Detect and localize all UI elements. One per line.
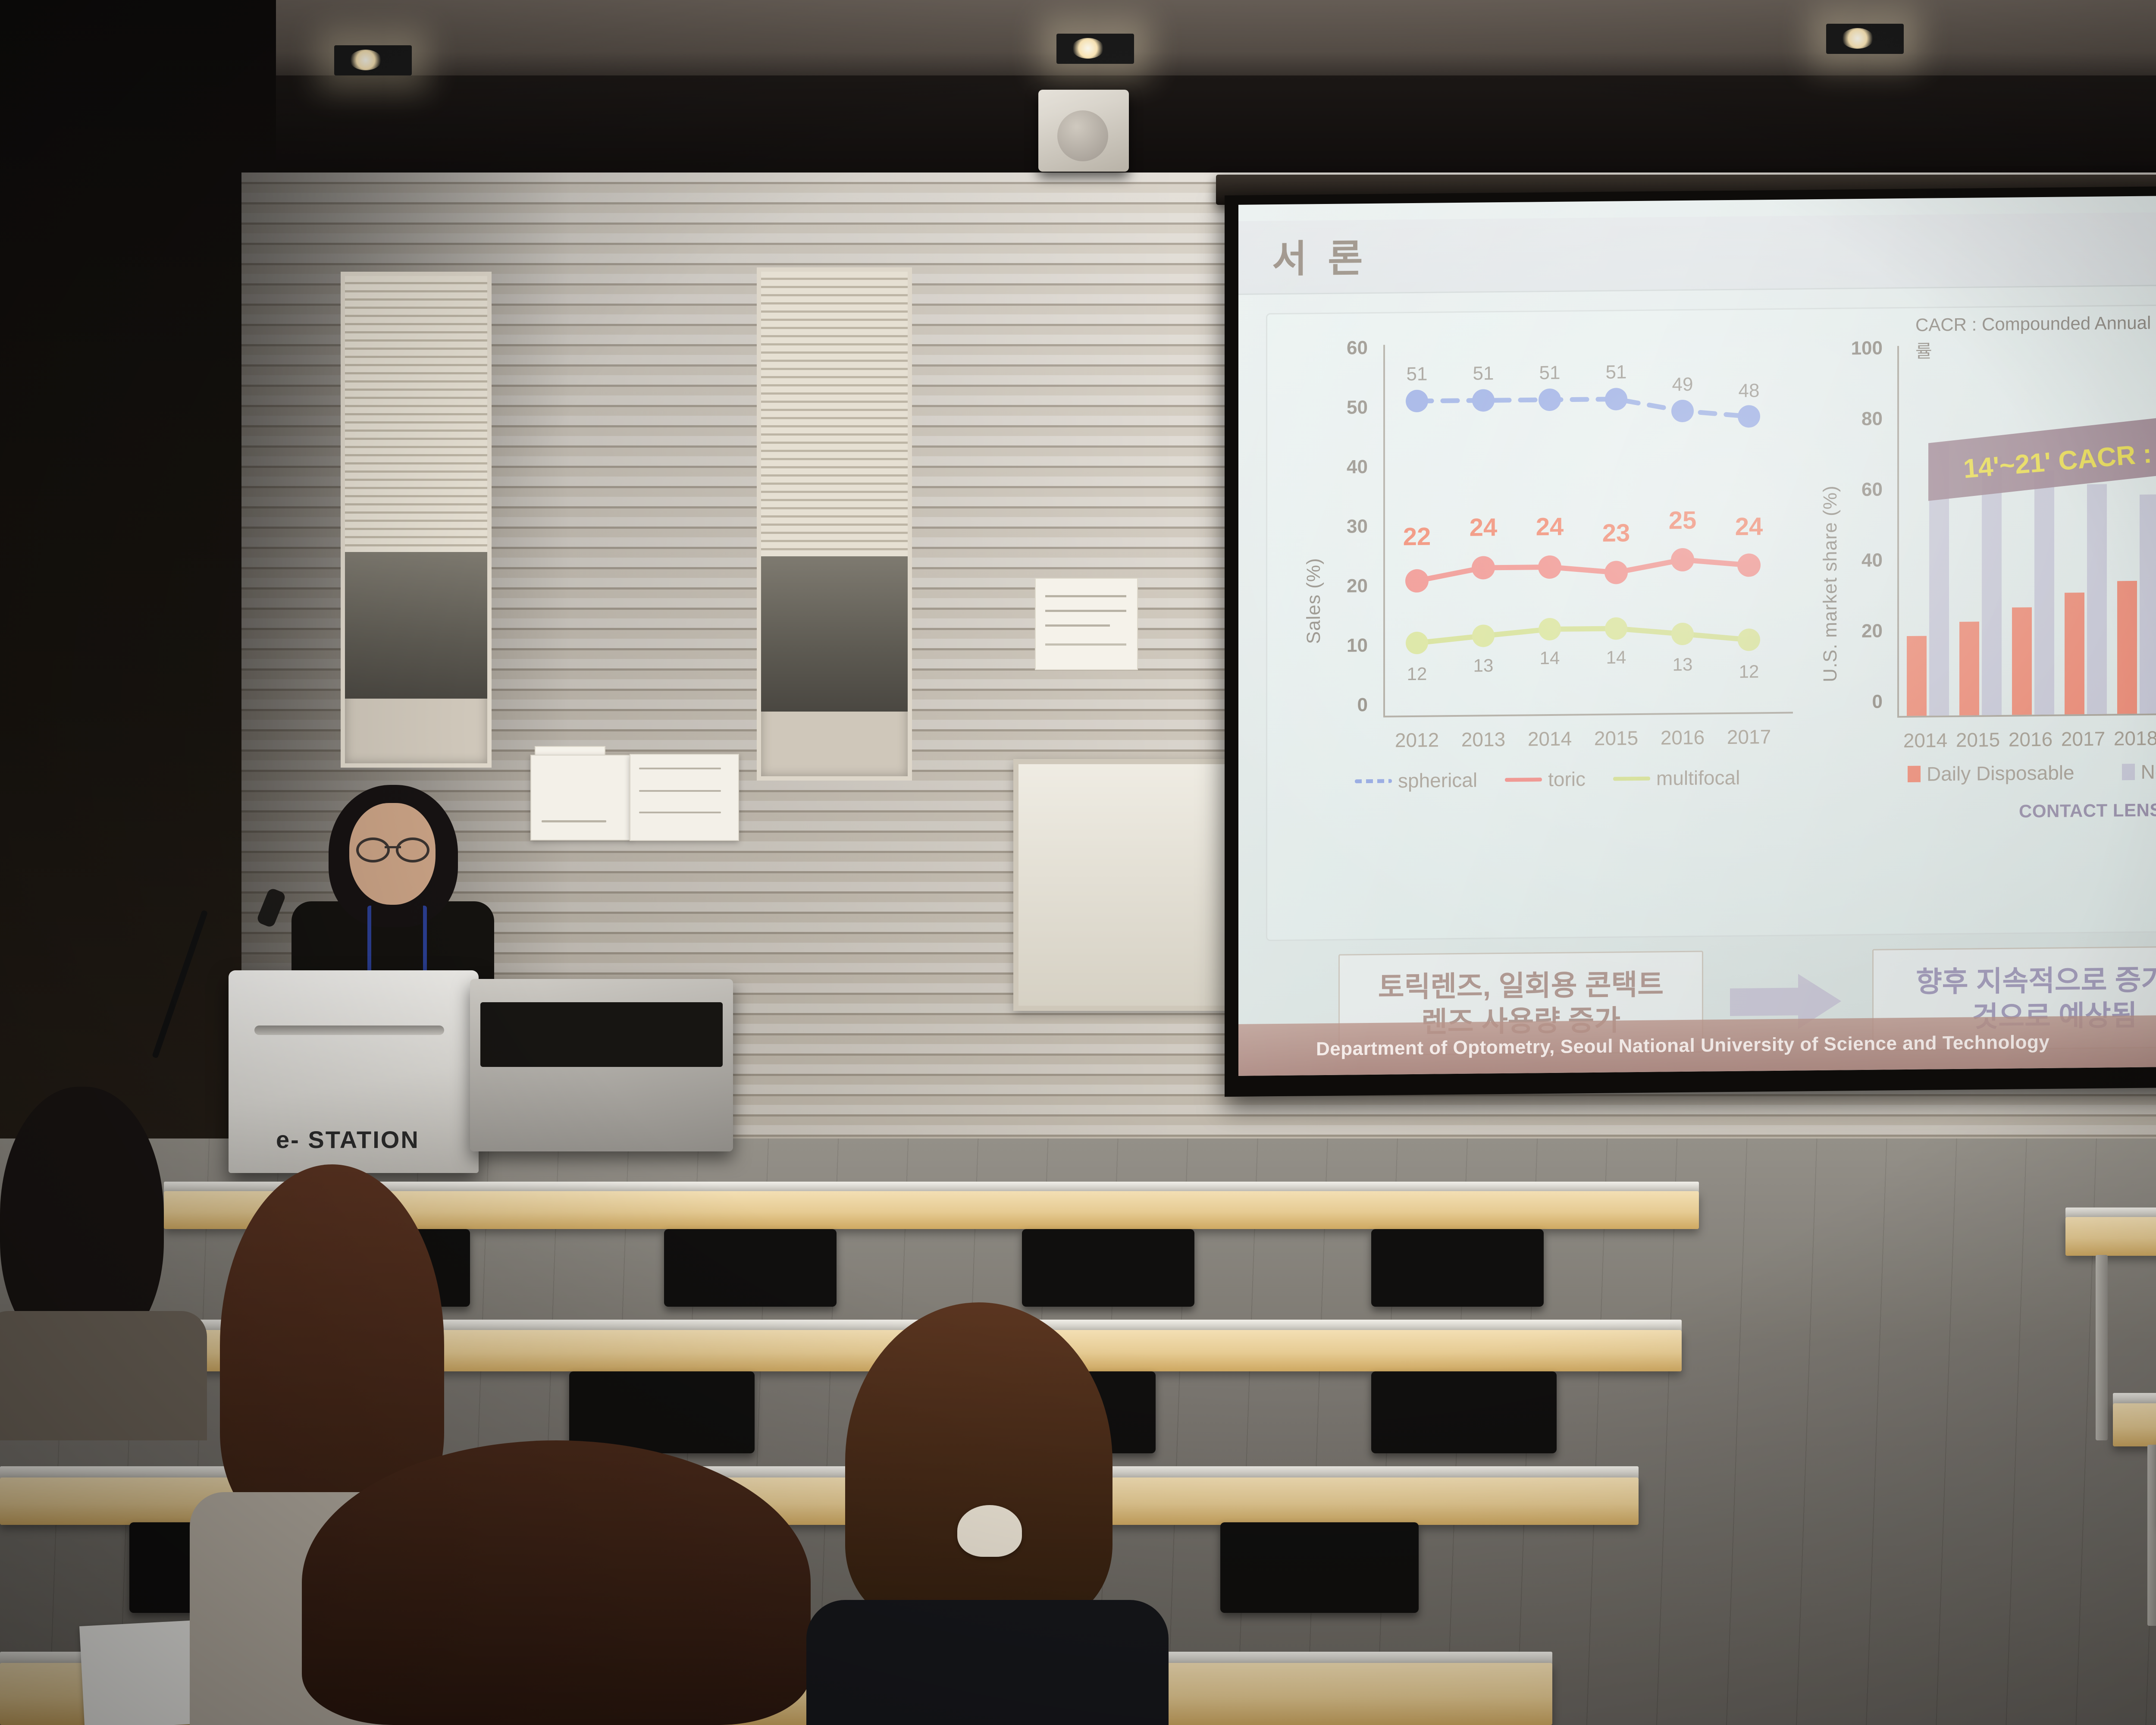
desk-leg bbox=[2147, 1445, 2156, 1626]
data-label-multifocal: 12 bbox=[1385, 663, 1449, 684]
line-chart-x-tick: 2015 bbox=[1584, 726, 1648, 750]
line-chart-y-axis-label: Sales (%) bbox=[1303, 463, 1325, 644]
wall-notice-document bbox=[1035, 578, 1138, 670]
av-console bbox=[470, 979, 733, 1151]
audience-member bbox=[302, 1440, 811, 1725]
bar-chart-y-tick: 80 bbox=[1843, 408, 1883, 430]
legend-item-non-daily-disposable: Non-daily disposable bbox=[2122, 759, 2156, 784]
legend-item-multifocal: multifocal bbox=[1613, 766, 1740, 790]
whiteboard-left bbox=[1013, 759, 1252, 1011]
line-chart-legend: spherical toric multifocal bbox=[1355, 766, 1740, 793]
legend-swatch-non-daily-disposable bbox=[2122, 764, 2135, 780]
projector-screen: 서 론 Sales (%) 60 50 40 30 20 10 0 bbox=[1238, 194, 2156, 1076]
bar-chart-y-tick: 0 bbox=[1843, 691, 1883, 713]
data-label-toric: 24 bbox=[1517, 512, 1582, 541]
slide-footer-bar: Department of Optometry, Seoul National … bbox=[1238, 1013, 2156, 1076]
line-chart-y-tick: 40 bbox=[1328, 456, 1368, 478]
bar-chart-x-tick: 2016 bbox=[2004, 728, 2057, 751]
audience-jacket bbox=[806, 1600, 1169, 1725]
legend-swatch-multifocal bbox=[1613, 776, 1650, 781]
audience-member bbox=[806, 1302, 1169, 1725]
data-label-toric: 25 bbox=[1650, 505, 1715, 535]
legend-swatch-daily-disposable bbox=[1908, 766, 1921, 782]
wall-poster-diagram bbox=[530, 755, 631, 841]
audience-hair bbox=[845, 1302, 1112, 1621]
bar-chart-y-axis-label: U.S. market share (%) bbox=[1820, 414, 1841, 682]
wall-poster-instructions bbox=[630, 754, 739, 841]
data-label-toric: 22 bbox=[1385, 522, 1449, 551]
line-chart-x-tick: 2012 bbox=[1385, 728, 1449, 752]
data-label-spherical: 49 bbox=[1650, 373, 1715, 395]
legend-label-spherical: spherical bbox=[1398, 768, 1477, 793]
bar-chart-y-tick: 100 bbox=[1843, 338, 1883, 360]
wall-speaker bbox=[1038, 90, 1129, 172]
audience-coat bbox=[0, 1311, 207, 1440]
lecture-hall-photo: 서 론 Sales (%) 60 50 40 30 20 10 0 bbox=[0, 0, 2156, 1725]
audience-hair-clip bbox=[957, 1505, 1022, 1557]
bar-chart-y-tick: 40 bbox=[1843, 550, 1883, 572]
slide-title-bar bbox=[1238, 210, 2156, 295]
data-label-spherical: 48 bbox=[1717, 380, 1781, 402]
line-chart-x-tick: 2016 bbox=[1650, 725, 1715, 749]
chart-source-citation: CONTACT LENSES 2017(Jan 1,2018) bbox=[2019, 798, 2156, 822]
window-frame bbox=[757, 267, 912, 781]
podium-brand-label: e- STATION bbox=[276, 1126, 420, 1154]
legend-swatch-toric bbox=[1505, 778, 1542, 782]
legend-label-toric: toric bbox=[1548, 767, 1586, 791]
window-glass bbox=[345, 552, 487, 699]
bar-chart-x-tick: 2017 bbox=[2057, 727, 2109, 751]
bar-chart-legend: Daily Disposable Non-daily disposable bbox=[1908, 759, 2156, 786]
data-label-multifocal: 14 bbox=[1517, 647, 1582, 668]
presentation-slide: 서 론 Sales (%) 60 50 40 30 20 10 0 bbox=[1238, 194, 2156, 1076]
window-frame bbox=[341, 272, 492, 768]
line-chart-y-tick: 50 bbox=[1328, 397, 1368, 419]
chair bbox=[1371, 1371, 1557, 1453]
av-console-screen bbox=[480, 1002, 723, 1067]
ceiling-downlight bbox=[1826, 24, 1904, 54]
legend-label-non-daily-disposable: Non-daily disposable bbox=[2141, 759, 2156, 784]
window-blind bbox=[345, 276, 487, 552]
audience-hair bbox=[302, 1440, 811, 1725]
chair bbox=[1371, 1229, 1544, 1307]
legend-label-daily-disposable: Daily Disposable bbox=[1927, 761, 2075, 785]
legend-swatch-spherical bbox=[1355, 779, 1392, 783]
data-label-spherical: 51 bbox=[1385, 363, 1449, 385]
bar-chart-y-tick: 20 bbox=[1843, 621, 1883, 643]
desk-leg bbox=[2096, 1255, 2108, 1440]
podium-handle bbox=[254, 1026, 444, 1035]
window-blind bbox=[761, 272, 908, 556]
slide-title: 서 론 bbox=[1272, 228, 1368, 283]
legend-item-spherical: spherical bbox=[1355, 768, 1477, 793]
chair bbox=[1022, 1229, 1194, 1307]
line-chart-sales-by-lens-type: Sales (%) 60 50 40 30 20 10 0 bbox=[1299, 329, 1799, 842]
data-label-multifocal: 14 bbox=[1584, 647, 1648, 668]
line-chart-y-tick: 0 bbox=[1328, 694, 1368, 716]
bar-chart-y-tick: 60 bbox=[1843, 479, 1883, 501]
window-glass bbox=[761, 556, 908, 712]
bar-chart-us-market-share: CACR : Compounded Annual Growth Rate, 연평… bbox=[1816, 302, 2156, 837]
line-chart-x-tick: 2013 bbox=[1451, 728, 1516, 751]
bar-chart-x-tick: 2014 bbox=[1899, 728, 1952, 752]
data-label-spherical: 51 bbox=[1451, 363, 1516, 385]
legend-item-daily-disposable: Daily Disposable bbox=[1908, 761, 2075, 786]
data-label-toric: 24 bbox=[1451, 513, 1516, 542]
legend-label-multifocal: multifocal bbox=[1656, 766, 1740, 790]
data-label-toric: 23 bbox=[1584, 518, 1648, 548]
data-label-multifocal: 13 bbox=[1650, 654, 1715, 675]
chair bbox=[1220, 1522, 1419, 1613]
slide-footer-text: Department of Optometry, Seoul National … bbox=[1316, 1032, 2049, 1060]
bar-chart-x-tick: 2015 bbox=[1952, 728, 2004, 752]
line-chart-y-tick: 20 bbox=[1328, 575, 1368, 597]
chair bbox=[664, 1229, 837, 1307]
data-label-multifocal: 13 bbox=[1451, 655, 1516, 676]
line-chart-x-tick: 2017 bbox=[1717, 725, 1781, 749]
data-label-spherical: 51 bbox=[1584, 361, 1648, 383]
podium: e- STATION bbox=[229, 970, 479, 1173]
line-chart-x-tick: 2014 bbox=[1517, 727, 1582, 750]
desk-surface bbox=[2113, 1403, 2156, 1446]
desk-surface bbox=[2065, 1217, 2156, 1256]
presenter-glasses bbox=[356, 837, 429, 857]
line-chart-y-tick: 30 bbox=[1328, 516, 1368, 538]
line-chart-y-tick: 10 bbox=[1328, 635, 1368, 657]
legend-item-toric: toric bbox=[1505, 767, 1586, 791]
line-chart-y-tick: 60 bbox=[1328, 337, 1368, 359]
ceiling-downlight bbox=[1056, 34, 1134, 64]
cacr-definition-note: CACR : Compounded Annual Growth Rate, 연평… bbox=[1915, 306, 2156, 363]
data-label-multifocal: 12 bbox=[1717, 661, 1781, 682]
ceiling-downlight bbox=[334, 45, 412, 75]
data-label-spherical: 51 bbox=[1517, 362, 1582, 384]
bar-chart-x-tick: 2018 bbox=[2109, 726, 2156, 750]
data-label-toric: 24 bbox=[1717, 512, 1781, 541]
